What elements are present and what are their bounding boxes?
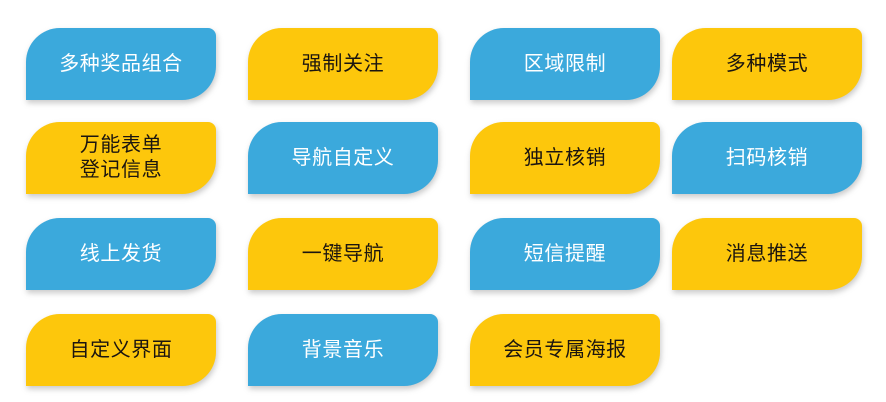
feature-card-label: 区域限制 xyxy=(524,52,606,77)
feature-card[interactable]: 背景音乐 xyxy=(248,314,438,386)
feature-card-label: 一键导航 xyxy=(302,242,384,267)
feature-card-label: 自定义界面 xyxy=(70,338,173,363)
feature-card-label: 短信提醒 xyxy=(524,242,606,267)
feature-card-label: 消息推送 xyxy=(726,242,808,267)
feature-card-label: 导航自定义 xyxy=(292,146,395,171)
feature-card-label: 万能表单 登记信息 xyxy=(80,133,162,183)
feature-card-label: 背景音乐 xyxy=(302,338,384,363)
feature-tag-board: 多种奖品组合强制关注区域限制多种模式万能表单 登记信息导航自定义独立核销扫码核销… xyxy=(0,0,886,402)
feature-card[interactable]: 强制关注 xyxy=(248,28,438,100)
feature-card[interactable]: 自定义界面 xyxy=(26,314,216,386)
feature-card[interactable]: 会员专属海报 xyxy=(470,314,660,386)
feature-card[interactable]: 消息推送 xyxy=(672,218,862,290)
feature-card[interactable]: 扫码核销 xyxy=(672,122,862,194)
feature-card-label: 强制关注 xyxy=(302,52,384,77)
feature-card[interactable]: 短信提醒 xyxy=(470,218,660,290)
feature-card[interactable]: 独立核销 xyxy=(470,122,660,194)
feature-card[interactable]: 区域限制 xyxy=(470,28,660,100)
feature-card[interactable]: 多种奖品组合 xyxy=(26,28,216,100)
feature-card-label: 多种模式 xyxy=(726,52,808,77)
feature-card-label: 会员专属海报 xyxy=(503,338,627,363)
feature-card-label: 扫码核销 xyxy=(726,146,808,171)
feature-card-label: 线上发货 xyxy=(80,242,162,267)
feature-card-label: 独立核销 xyxy=(524,146,606,171)
feature-card[interactable]: 万能表单 登记信息 xyxy=(26,122,216,194)
feature-card[interactable]: 导航自定义 xyxy=(248,122,438,194)
feature-card-label: 多种奖品组合 xyxy=(59,52,183,77)
feature-card[interactable]: 多种模式 xyxy=(672,28,862,100)
feature-card[interactable]: 线上发货 xyxy=(26,218,216,290)
feature-card[interactable]: 一键导航 xyxy=(248,218,438,290)
